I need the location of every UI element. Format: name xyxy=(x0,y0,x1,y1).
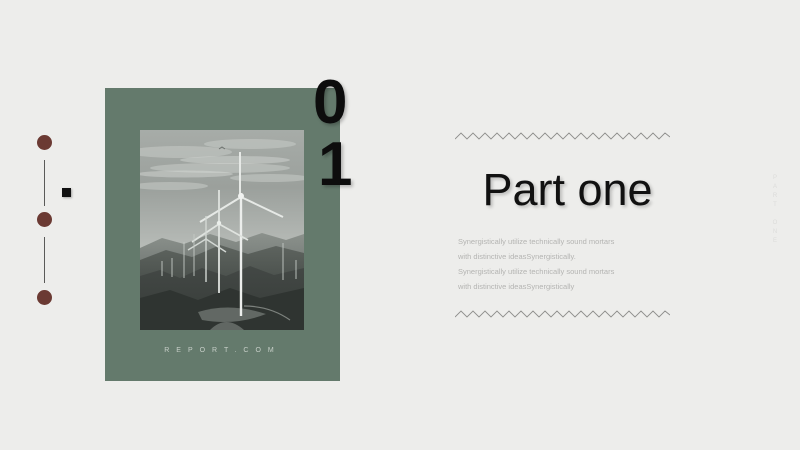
zigzag-divider-bottom xyxy=(455,308,670,320)
page-title: Part one xyxy=(455,164,680,216)
section-numeral: 0 1 xyxy=(313,72,373,212)
left-timeline xyxy=(36,130,56,310)
body-line-2: with distinctive ideasSynergistically. xyxy=(458,249,680,264)
body-line-4: with distinctive ideasSynergistically xyxy=(458,279,680,294)
timeline-connector-upper xyxy=(44,160,45,206)
body-line-1: Synergistically utilize technically soun… xyxy=(458,234,680,249)
side-vertical-label: PART ONE xyxy=(772,175,778,247)
timeline-connector-lower xyxy=(44,237,45,283)
timeline-dot-top xyxy=(37,135,52,150)
numeral-period-dot xyxy=(62,188,71,197)
numeral-zero: 0 xyxy=(313,72,345,134)
body-line-3: Synergistically utilize technically soun… xyxy=(458,264,680,279)
numeral-one: 1 xyxy=(318,134,352,196)
body-copy: Synergistically utilize technically soun… xyxy=(455,234,680,294)
wind-turbine-photo xyxy=(140,130,304,330)
timeline-dot-middle xyxy=(37,212,52,227)
zigzag-divider-top xyxy=(455,130,670,142)
section-content: Part one Synergistically utilize technic… xyxy=(455,130,680,320)
photo-illustration xyxy=(140,130,304,330)
timeline-dot-bottom xyxy=(37,290,52,305)
panel-caption: REPORT.COM xyxy=(105,347,340,354)
